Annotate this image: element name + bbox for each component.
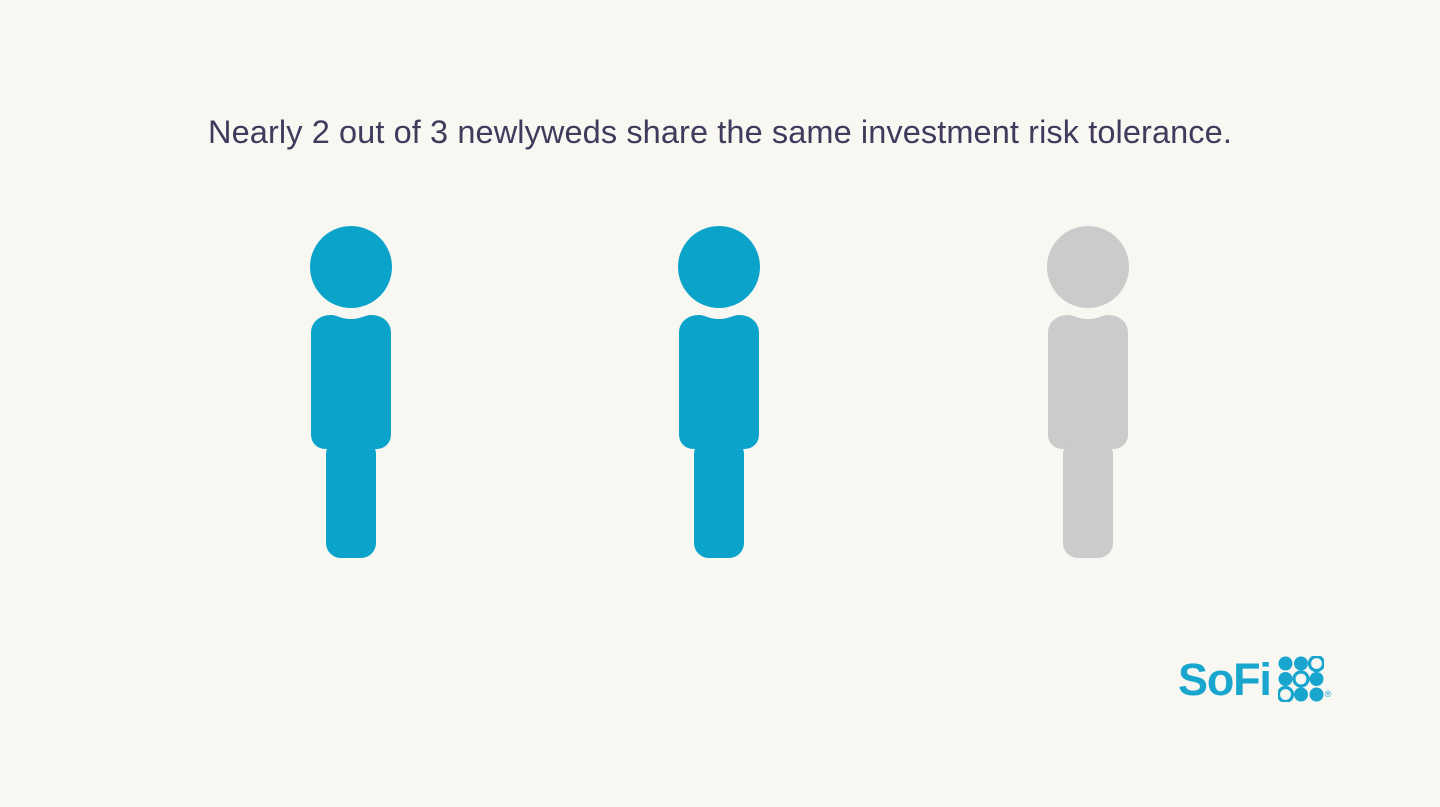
page-title: Nearly 2 out of 3 newlyweds share the sa…: [0, 114, 1440, 151]
sofi-dot-grid-icon: [1278, 656, 1324, 702]
trademark-symbol: ®: [1325, 689, 1332, 699]
person-icon-3: [1024, 226, 1152, 561]
person-icon-2: [655, 226, 783, 561]
infographic-slide: Nearly 2 out of 3 newlyweds share the sa…: [0, 0, 1440, 807]
pictogram-chart: [0, 226, 1440, 561]
person-icon-1: [287, 226, 415, 561]
sofi-logo: SoFi ®: [1178, 653, 1330, 705]
sofi-wordmark: SoFi: [1178, 657, 1271, 702]
